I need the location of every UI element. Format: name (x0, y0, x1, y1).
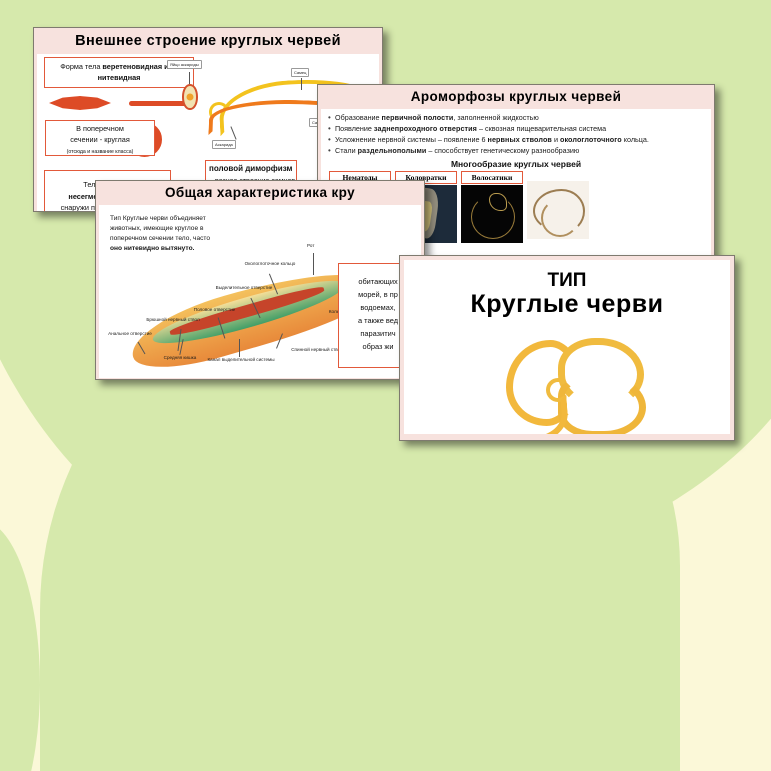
thumbnail-worm-drawing[interactable] (527, 171, 589, 239)
spindle-shape-icon (49, 96, 111, 110)
b3-post2: кольца. (622, 135, 649, 144)
aromorphoses-list: Образование первичной полости, заполненн… (327, 113, 705, 157)
slide4-title-line1: ТИП (404, 270, 730, 292)
diagram-label-excretory-pore: Выделительное отверстие (213, 285, 275, 291)
slide-general-characteristics[interactable]: Общая характеристика кру Тип Круглые чер… (95, 180, 425, 380)
s3-side-l2: морей, в пр (358, 290, 398, 299)
slide3-body: Тип Круглые черви объединяет животных, и… (99, 205, 421, 378)
callout-male: Самец (291, 68, 309, 77)
slide3-title: Общая характеристика кру (99, 184, 421, 205)
list-item: Стали раздельнополыми – способствует ген… (327, 146, 705, 157)
s1-sex-l1: половой диморфизм (209, 164, 292, 173)
b1-post: , заполненной жидкостью (453, 113, 538, 122)
b2-post: – сквозная пищеварительная система (477, 124, 606, 133)
s1-cross-l1: В поперечном (76, 124, 124, 133)
list-item: Появление заднепроходного отверстия – ск… (327, 124, 705, 135)
worm-drawing (527, 181, 589, 239)
s1-cross-section-box: В поперечном сечении - круглая (отсюда и… (45, 120, 155, 156)
b3-bold: нервных стволов (488, 135, 552, 144)
diagram-label-mouth: Рот (307, 243, 314, 249)
slide4-body: ТИП Круглые черви (404, 260, 730, 434)
diversity-heading: Многообразие круглых червей (327, 159, 705, 169)
s3-side-l5: паразитич (360, 329, 395, 338)
s3-side-l3: водоемах, (360, 303, 395, 312)
leader-line-male (301, 78, 302, 90)
thumbnail-horsehair[interactable]: Волосатики (461, 171, 523, 243)
diagram-label-ventral-nerve-cord: Брюшной нервный ствол (145, 317, 201, 323)
ascaris-egg-icon (182, 84, 198, 110)
ascaris-loop-3 (558, 374, 646, 434)
b1-pre: Образование (335, 113, 382, 122)
b4-bold: раздельнополыми (358, 146, 427, 155)
diagram-label-anus: Анальное отверстие (105, 331, 155, 337)
leader-line-mouth (313, 253, 314, 275)
list-item: Усложнение нервной системы – появление 6… (327, 135, 705, 146)
callout-ascaris: Аскарида (212, 140, 236, 149)
diagram-label-pharyngeal-ring: Окологлоточное кольцо (235, 261, 305, 267)
s3-side-l6: образ жи (363, 342, 394, 351)
diagram-label-midgut: Средняя кишка (159, 355, 201, 361)
thumbnail-caption: Волосатики (461, 171, 523, 184)
b4-pre: Стали (335, 146, 358, 155)
slide4-title-line2: Круглые черви (404, 290, 730, 319)
b1-bold: первичной полости (382, 113, 454, 122)
worm-drawing-shape-2 (541, 199, 579, 237)
s3-intro-l2: животных, имеющие круглое в (110, 225, 203, 232)
slide1-title: Внешнее строение круглых червей (37, 31, 379, 54)
s1-shape-text-plain: Форма тела (60, 62, 102, 71)
b3-post: и (552, 135, 560, 144)
b3-pre: Усложнение нервной системы – появление 6 (335, 135, 488, 144)
leader-line-egg (189, 72, 190, 84)
b4-post: – способствует генетическому разнообрази… (426, 146, 579, 155)
b2-pre: Появление (335, 124, 374, 133)
diagram-label-excretory-canal: Канал выделительной системы (203, 357, 279, 363)
s1-shape-text-bold2: нитевидная (98, 73, 141, 82)
list-item: Образование первичной полости, заполненн… (327, 113, 705, 124)
s3-intro-l3: поперечном сечении тело, часто (110, 235, 210, 242)
background-blob-left (0, 520, 40, 771)
s1-cross-note: (отсюда и название класса) (67, 149, 134, 155)
s3-side-l1: обитающих (358, 277, 397, 286)
leader-line-canal (239, 339, 240, 357)
ascaris-tail (510, 394, 569, 434)
s3-side-l4: а также вед (358, 316, 398, 325)
ascaris-roundworm-photo (500, 334, 650, 429)
b2-bold: заднепроходного отверстия (374, 124, 477, 133)
horsehair-worm-photo (461, 185, 523, 243)
s3-intro-l1: Тип Круглые черви объединяет (110, 215, 206, 222)
s1-cross-l2: сечении - круглая (70, 135, 130, 144)
b3-bold2: окологлоточного (560, 135, 622, 144)
slide2-title: Ароморфозы круглых червей (321, 88, 711, 109)
presentation-canvas: Внешнее строение круглых червей Форма те… (0, 0, 771, 771)
diagram-label-genital-pore: Половое отверстие (187, 307, 242, 313)
slide-type-roundworms[interactable]: ТИП Круглые черви (399, 255, 735, 441)
callout-egg: Яйцо аскариды (167, 60, 202, 69)
